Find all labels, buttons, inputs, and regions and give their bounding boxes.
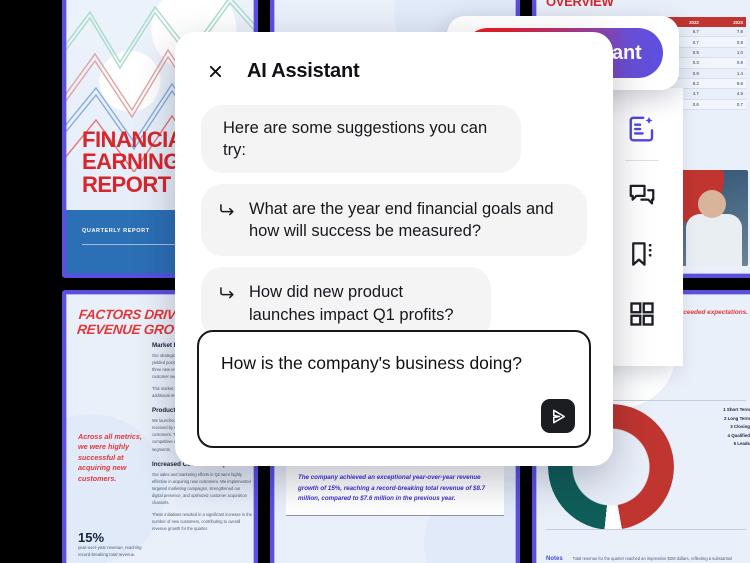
ai-assistant-panel: AI Assistant Here are some suggestions y… — [175, 32, 613, 466]
table-cell-value: 4.9 — [702, 89, 746, 99]
chart-legend-item: 1 Short Term — [723, 406, 750, 415]
table-cell-value: 0.9 — [702, 58, 746, 68]
ai-summary-icon — [627, 114, 657, 144]
divider — [546, 529, 746, 530]
ai-summary-icon-button[interactable] — [619, 106, 665, 152]
arrow-turn-glyph — [219, 286, 236, 301]
assistant-intro-message: Here are some suggestions you can try: — [201, 105, 521, 173]
bookmark-icon-button[interactable] — [619, 231, 665, 277]
suggestion-chip-1[interactable]: What are the year end financial goals an… — [201, 184, 587, 256]
composer-input[interactable]: How is the company's business doing? — [221, 352, 529, 376]
growth-pullquote: Across all metrics, we were highly succe… — [78, 432, 144, 484]
notes-section: Notes Total revenue for the quarter reac… — [546, 556, 746, 563]
composer[interactable]: How is the company's business doing? — [197, 330, 591, 448]
chart-legend-item: 3 Closing — [723, 423, 750, 432]
table-cell-value: 0.7 — [702, 99, 746, 109]
apps-grid-icon — [628, 300, 656, 328]
suggestion-chip-1-text: What are the year end financial goals an… — [249, 198, 563, 242]
suggestion-chip-2[interactable]: How did new product launches impact Q1 p… — [201, 267, 491, 339]
tool-rail — [601, 88, 683, 366]
overview-title: OVERVIEW — [546, 0, 746, 9]
growth-stat-value: 15% — [78, 530, 148, 545]
growth-stat-caption: year-over-year revenue, reaching record-… — [78, 545, 148, 559]
cover-footer-label: QUARTERLY REPORT — [82, 228, 150, 234]
arrow-turn-icon — [219, 281, 236, 307]
table-cell-value: 7.8 — [702, 27, 746, 37]
comments-icon — [627, 179, 657, 209]
comments-icon-button[interactable] — [619, 171, 665, 217]
chart-legend-item: 2 Long Term — [723, 415, 750, 424]
rail-divider — [625, 160, 659, 161]
send-arrow-icon — [549, 407, 568, 426]
table-cell-value: 1.4 — [702, 68, 746, 78]
send-button[interactable] — [541, 399, 575, 433]
callout-quote: The company achieved an exceptional year… — [286, 462, 504, 516]
suggestion-chip-2-text: How did new product launches impact Q1 p… — [249, 281, 467, 325]
callout-quote-text: The company achieved an exceptional year… — [298, 474, 485, 502]
table-cell-value: 9.8 — [702, 78, 746, 88]
suggestions-list: Here are some suggestions you can try: W… — [175, 83, 613, 340]
bookmark-icon — [627, 239, 657, 269]
notes-label: Notes — [546, 556, 563, 563]
table-col-2023: 2023 — [702, 17, 746, 27]
growth-section-text: Our sales and marketing efforts in Q2 we… — [152, 471, 252, 507]
panel-title: AI Assistant — [247, 60, 359, 83]
table-cell-value: 0.9 — [702, 37, 746, 47]
growth-section-text: These initiatives resulted in a signific… — [152, 511, 252, 532]
arrow-turn-icon — [219, 198, 236, 224]
chart-legend-item: 4 Qualified — [723, 432, 750, 441]
chart-legend: 1 Short Term2 Long Term3 Closing4 Qualif… — [723, 406, 750, 449]
close-x-glyph — [208, 64, 223, 79]
photo-figure-right — [686, 214, 742, 266]
apps-grid-icon-button[interactable] — [619, 291, 665, 337]
photo-head-right — [698, 190, 726, 218]
screen-root: FINANCIAL EARNINGS REPORT QUARTERLY REPO… — [0, 0, 750, 563]
close-icon[interactable] — [205, 62, 225, 82]
notes-text: Total revenue for the quarter reached an… — [573, 556, 746, 563]
chart-legend-item: 5 Leads — [723, 440, 750, 449]
arrow-turn-glyph — [219, 203, 236, 218]
panel-header: AI Assistant — [175, 32, 613, 83]
table-cell-value: 1.0 — [702, 47, 746, 57]
